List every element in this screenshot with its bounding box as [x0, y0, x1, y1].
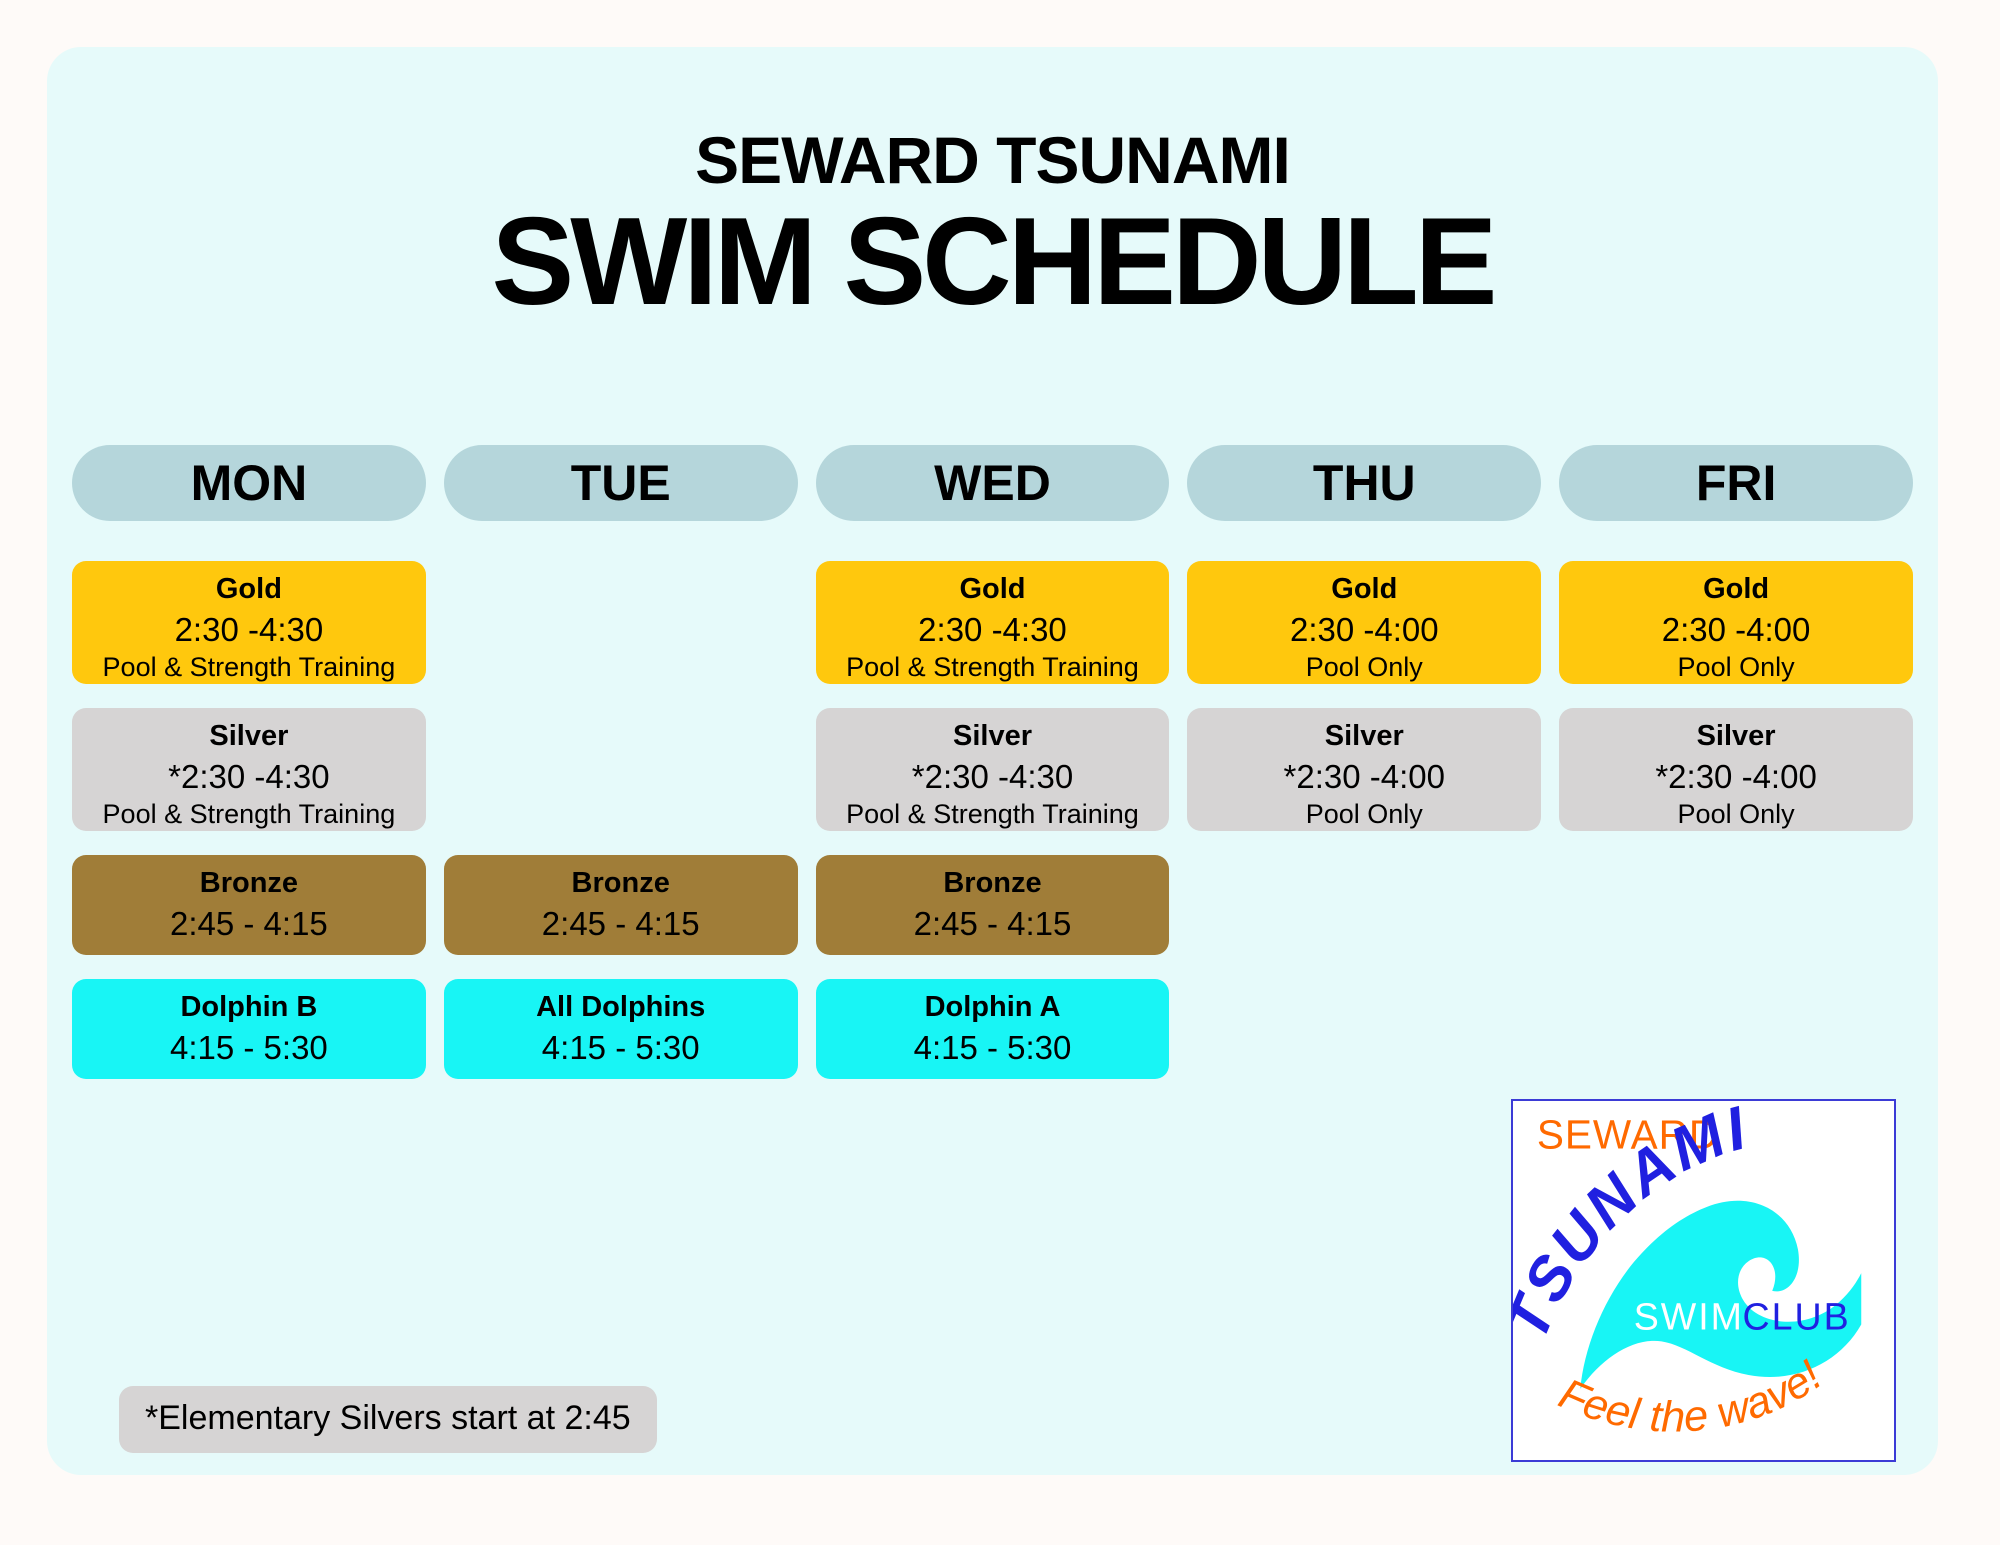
class-note: Pool & Strength Training — [824, 797, 1162, 832]
class-note: Pool Only — [1195, 650, 1533, 685]
club-logo: SEWARD TSUNAMI SWIM CLUB Feel the wave! — [1511, 1099, 1896, 1462]
class-card-bronze[interactable]: Bronze 2:45 - 4:15 — [444, 855, 798, 955]
class-card-gold[interactable]: Gold 2:30 -4:30 Pool & Strength Training — [816, 561, 1170, 684]
logo-swim-text: SWIM — [1634, 1295, 1744, 1337]
class-note: Pool & Strength Training — [80, 797, 418, 832]
class-name: Dolphin B — [80, 989, 418, 1027]
class-name: Gold — [1195, 571, 1533, 609]
class-name: Silver — [824, 718, 1162, 756]
class-card-gold[interactable]: Gold 2:30 -4:00 Pool Only — [1187, 561, 1541, 684]
class-name: Gold — [824, 571, 1162, 609]
class-name: Gold — [80, 571, 418, 609]
slot-wed-bronze: Bronze 2:45 - 4:15 — [816, 855, 1170, 955]
footnote-elementary-silvers: *Elementary Silvers start at 2:45 — [119, 1386, 657, 1453]
slot-tue-dolphin: All Dolphins 4:15 - 5:30 — [444, 979, 798, 1079]
class-time: *2:30 -4:30 — [80, 756, 418, 798]
class-name: Gold — [1567, 571, 1905, 609]
class-note: Pool Only — [1195, 797, 1533, 832]
class-card-dolphin[interactable]: All Dolphins 4:15 - 5:30 — [444, 979, 798, 1079]
class-name: Dolphin A — [824, 989, 1162, 1027]
class-card-silver[interactable]: Silver *2:30 -4:30 Pool & Strength Train… — [816, 708, 1170, 831]
class-card-gold[interactable]: Gold 2:30 -4:30 Pool & Strength Training — [72, 561, 426, 684]
class-card-bronze[interactable]: Bronze 2:45 - 4:15 — [72, 855, 426, 955]
slot-fri-bronze-empty — [1559, 855, 1913, 955]
class-card-silver[interactable]: Silver *2:30 -4:30 Pool & Strength Train… — [72, 708, 426, 831]
class-time: 2:45 - 4:15 — [80, 903, 418, 945]
class-name: Silver — [80, 718, 418, 756]
day-header-tue[interactable]: TUE — [444, 445, 798, 521]
class-name: All Dolphins — [452, 989, 790, 1027]
page-subtitle: SEWARD TSUNAMI — [47, 127, 1938, 193]
page-title: SWIM SCHEDULE — [47, 199, 1938, 325]
class-name: Bronze — [824, 865, 1162, 903]
class-card-bronze[interactable]: Bronze 2:45 - 4:15 — [816, 855, 1170, 955]
day-header-mon[interactable]: MON — [72, 445, 426, 521]
class-time: 2:30 -4:30 — [80, 609, 418, 651]
class-card-dolphin[interactable]: Dolphin B 4:15 - 5:30 — [72, 979, 426, 1079]
day-header-thu[interactable]: THU — [1187, 445, 1541, 521]
day-column-thu: THU Gold 2:30 -4:00 Pool Only Silver *2:… — [1187, 445, 1541, 1103]
slot-tue-bronze: Bronze 2:45 - 4:15 — [444, 855, 798, 955]
class-time: *2:30 -4:00 — [1195, 756, 1533, 798]
slot-mon-gold: Gold 2:30 -4:30 Pool & Strength Training — [72, 561, 426, 684]
slot-tue-silver-empty — [444, 708, 798, 831]
day-column-mon: MON Gold 2:30 -4:30 Pool & Strength Trai… — [72, 445, 426, 1103]
slot-thu-bronze-empty — [1187, 855, 1541, 955]
day-column-tue: TUE Bronze 2:45 - 4:15 All Dolphins 4:15… — [444, 445, 798, 1103]
slot-mon-bronze: Bronze 2:45 - 4:15 — [72, 855, 426, 955]
class-time: 4:15 - 5:30 — [824, 1027, 1162, 1069]
class-time: 4:15 - 5:30 — [452, 1027, 790, 1069]
title-block: SEWARD TSUNAMI SWIM SCHEDULE — [47, 127, 1938, 325]
slot-wed-dolphin: Dolphin A 4:15 - 5:30 — [816, 979, 1170, 1079]
day-column-wed: WED Gold 2:30 -4:30 Pool & Strength Trai… — [816, 445, 1170, 1103]
class-card-silver[interactable]: Silver *2:30 -4:00 Pool Only — [1559, 708, 1913, 831]
day-column-fri: FRI Gold 2:30 -4:00 Pool Only Silver *2:… — [1559, 445, 1913, 1103]
class-time: 4:15 - 5:30 — [80, 1027, 418, 1069]
class-note: Pool Only — [1567, 797, 1905, 832]
class-time: 2:45 - 4:15 — [824, 903, 1162, 945]
class-card-gold[interactable]: Gold 2:30 -4:00 Pool Only — [1559, 561, 1913, 684]
slot-wed-silver: Silver *2:30 -4:30 Pool & Strength Train… — [816, 708, 1170, 831]
class-name: Silver — [1195, 718, 1533, 756]
slot-thu-gold: Gold 2:30 -4:00 Pool Only — [1187, 561, 1541, 684]
class-time: *2:30 -4:00 — [1567, 756, 1905, 798]
class-card-silver[interactable]: Silver *2:30 -4:00 Pool Only — [1187, 708, 1541, 831]
class-time: 2:30 -4:00 — [1567, 609, 1905, 651]
slot-wed-gold: Gold 2:30 -4:30 Pool & Strength Training — [816, 561, 1170, 684]
slot-mon-dolphin: Dolphin B 4:15 - 5:30 — [72, 979, 426, 1079]
class-time: 2:30 -4:00 — [1195, 609, 1533, 651]
schedule-panel: SEWARD TSUNAMI SWIM SCHEDULE MON Gold 2:… — [47, 47, 1938, 1475]
day-header-fri[interactable]: FRI — [1559, 445, 1913, 521]
class-note: Pool & Strength Training — [80, 650, 418, 685]
slot-fri-gold: Gold 2:30 -4:00 Pool Only — [1559, 561, 1913, 684]
class-note: Pool & Strength Training — [824, 650, 1162, 685]
slot-fri-silver: Silver *2:30 -4:00 Pool Only — [1559, 708, 1913, 831]
class-name: Bronze — [80, 865, 418, 903]
slot-thu-silver: Silver *2:30 -4:00 Pool Only — [1187, 708, 1541, 831]
slot-tue-gold-empty — [444, 561, 798, 684]
class-time: 2:30 -4:30 — [824, 609, 1162, 651]
class-time: 2:45 - 4:15 — [452, 903, 790, 945]
logo-club-text: CLUB — [1743, 1295, 1851, 1337]
class-note: Pool Only — [1567, 650, 1905, 685]
class-card-dolphin[interactable]: Dolphin A 4:15 - 5:30 — [816, 979, 1170, 1079]
class-name: Bronze — [452, 865, 790, 903]
schedule-grid: MON Gold 2:30 -4:30 Pool & Strength Trai… — [72, 445, 1913, 1103]
slot-mon-silver: Silver *2:30 -4:30 Pool & Strength Train… — [72, 708, 426, 831]
class-name: Silver — [1567, 718, 1905, 756]
class-time: *2:30 -4:30 — [824, 756, 1162, 798]
day-header-wed[interactable]: WED — [816, 445, 1170, 521]
